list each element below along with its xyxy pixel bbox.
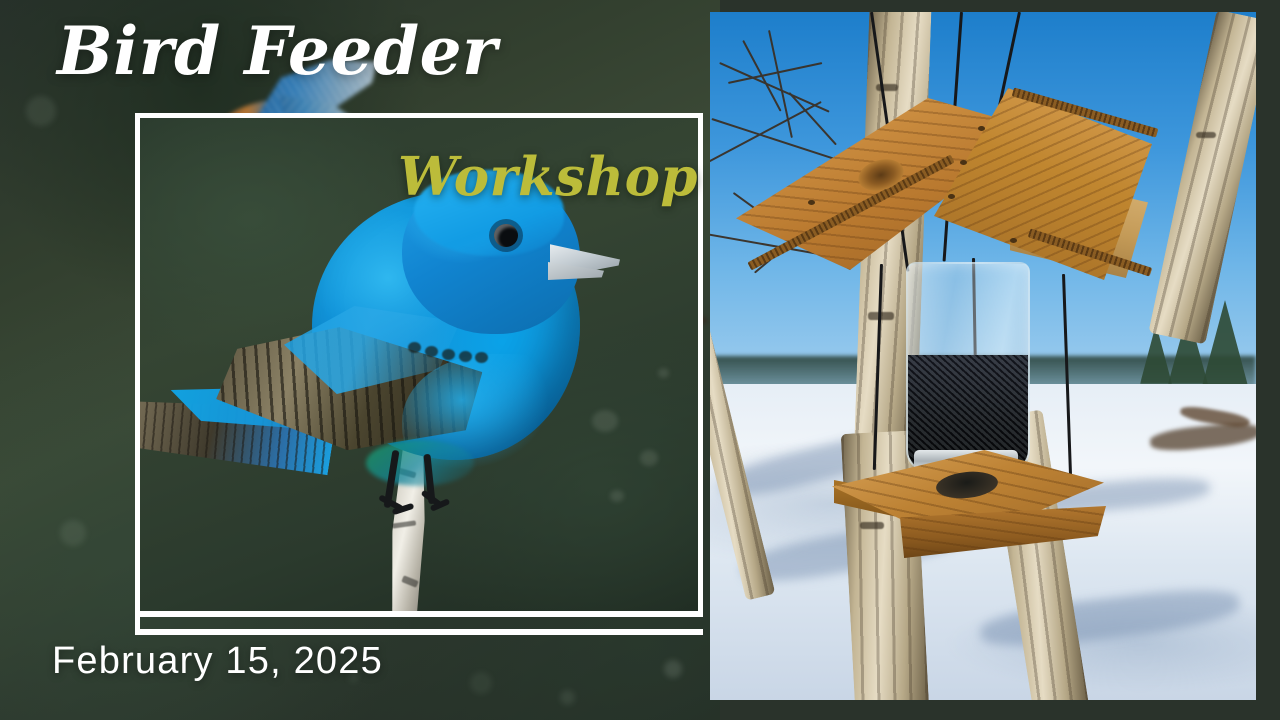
bark-marking xyxy=(860,522,884,529)
bird-eye xyxy=(494,224,518,247)
bird-flank-speckles xyxy=(408,340,498,366)
nail-head xyxy=(808,200,815,205)
bark-marking xyxy=(1196,132,1216,138)
bokeh-spot xyxy=(664,660,682,678)
nail-head xyxy=(978,126,985,131)
bokeh-spot xyxy=(640,450,658,466)
bokeh-spot xyxy=(560,690,575,705)
nail-head xyxy=(948,194,955,199)
bokeh-spot xyxy=(470,672,492,694)
bird-feeder-photo xyxy=(710,12,1256,700)
nail-head xyxy=(1010,238,1017,243)
bokeh-spot xyxy=(658,368,669,378)
twig xyxy=(789,92,837,145)
bird-vent xyxy=(366,440,474,486)
page-subtitle: Workshop xyxy=(398,148,698,206)
mason-jar xyxy=(906,262,1030,472)
event-date: February 15, 2025 xyxy=(52,640,383,683)
bokeh-spot xyxy=(60,520,86,546)
page-title: Bird Feeder xyxy=(57,16,497,87)
nail-head xyxy=(960,160,967,165)
bokeh-spot xyxy=(26,96,56,126)
poster-canvas: Bird Feeder Workshop February 15, 2025 xyxy=(0,0,1280,720)
indigo-bunting xyxy=(152,158,622,578)
